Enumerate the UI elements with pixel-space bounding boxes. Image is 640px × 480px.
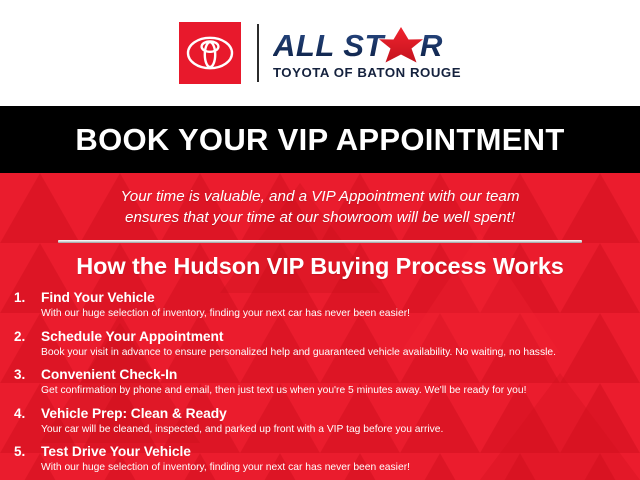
step-number: 1. (14, 290, 41, 305)
allstar-title: ALL ST R (273, 27, 455, 64)
step-description: Get confirmation by phone and email, the… (41, 384, 640, 398)
step-body: Schedule Your Appointment Book your visi… (41, 329, 640, 360)
logo-band: ALL ST R TOYOTA OF BATON ROUGE (0, 0, 640, 106)
steps-list: 1. Find Your Vehicle With our huge selec… (0, 290, 640, 480)
intro-text: Your time is valuable, and a VIP Appoint… (0, 186, 640, 228)
svg-text:ALL ST: ALL ST (273, 28, 386, 63)
toyota-emblem-icon (179, 22, 241, 84)
step-description: With our huge selection of inventory, fi… (41, 461, 640, 475)
list-item: 3. Convenient Check-In Get confirmation … (0, 367, 640, 398)
step-title: Vehicle Prep: Clean & Ready (41, 406, 640, 422)
logo-divider (257, 24, 259, 82)
step-body: Find Your Vehicle With our huge selectio… (41, 290, 640, 321)
intro-line-2: ensures that your time at our showroom w… (0, 207, 640, 228)
step-number: 3. (14, 367, 41, 382)
headline-band: BOOK YOUR VIP APPOINTMENT (0, 106, 640, 173)
step-title: Test Drive Your Vehicle (41, 444, 640, 460)
step-description: Your car will be cleaned, inspected, and… (41, 423, 640, 437)
step-number: 5. (14, 444, 41, 459)
page-title: BOOK YOUR VIP APPOINTMENT (75, 122, 564, 158)
list-item: 4. Vehicle Prep: Clean & Ready Your car … (0, 406, 640, 437)
step-body: Convenient Check-In Get confirmation by … (41, 367, 640, 398)
list-item: 5. Test Drive Your Vehicle With our huge… (0, 444, 640, 475)
list-item: 2. Schedule Your Appointment Book your v… (0, 329, 640, 360)
step-body: Vehicle Prep: Clean & Ready Your car wil… (41, 406, 640, 437)
section-heading: How the Hudson VIP Buying Process Works (0, 253, 640, 280)
divider-rule (58, 240, 582, 243)
step-description: With our huge selection of inventory, fi… (41, 307, 640, 321)
allstar-wordmark: ALL ST R TOYOTA OF BATON ROUGE (273, 27, 461, 80)
step-title: Convenient Check-In (41, 367, 640, 383)
dealer-logo: ALL ST R TOYOTA OF BATON ROUGE (179, 21, 461, 85)
step-number: 2. (14, 329, 41, 344)
dealer-subtitle: TOYOTA OF BATON ROUGE (273, 65, 461, 80)
step-number: 4. (14, 406, 41, 421)
step-title: Schedule Your Appointment (41, 329, 640, 345)
step-description: Book your visit in advance to ensure per… (41, 346, 640, 360)
svg-text:R: R (420, 28, 443, 63)
content-body: Your time is valuable, and a VIP Appoint… (0, 173, 640, 480)
step-body: Test Drive Your Vehicle With our huge se… (41, 444, 640, 475)
step-title: Find Your Vehicle (41, 290, 640, 306)
vip-appointment-flyer: ALL ST R TOYOTA OF BATON ROUGE BOOK YOUR… (0, 0, 640, 480)
list-item: 1. Find Your Vehicle With our huge selec… (0, 290, 640, 321)
intro-line-1: Your time is valuable, and a VIP Appoint… (0, 186, 640, 207)
